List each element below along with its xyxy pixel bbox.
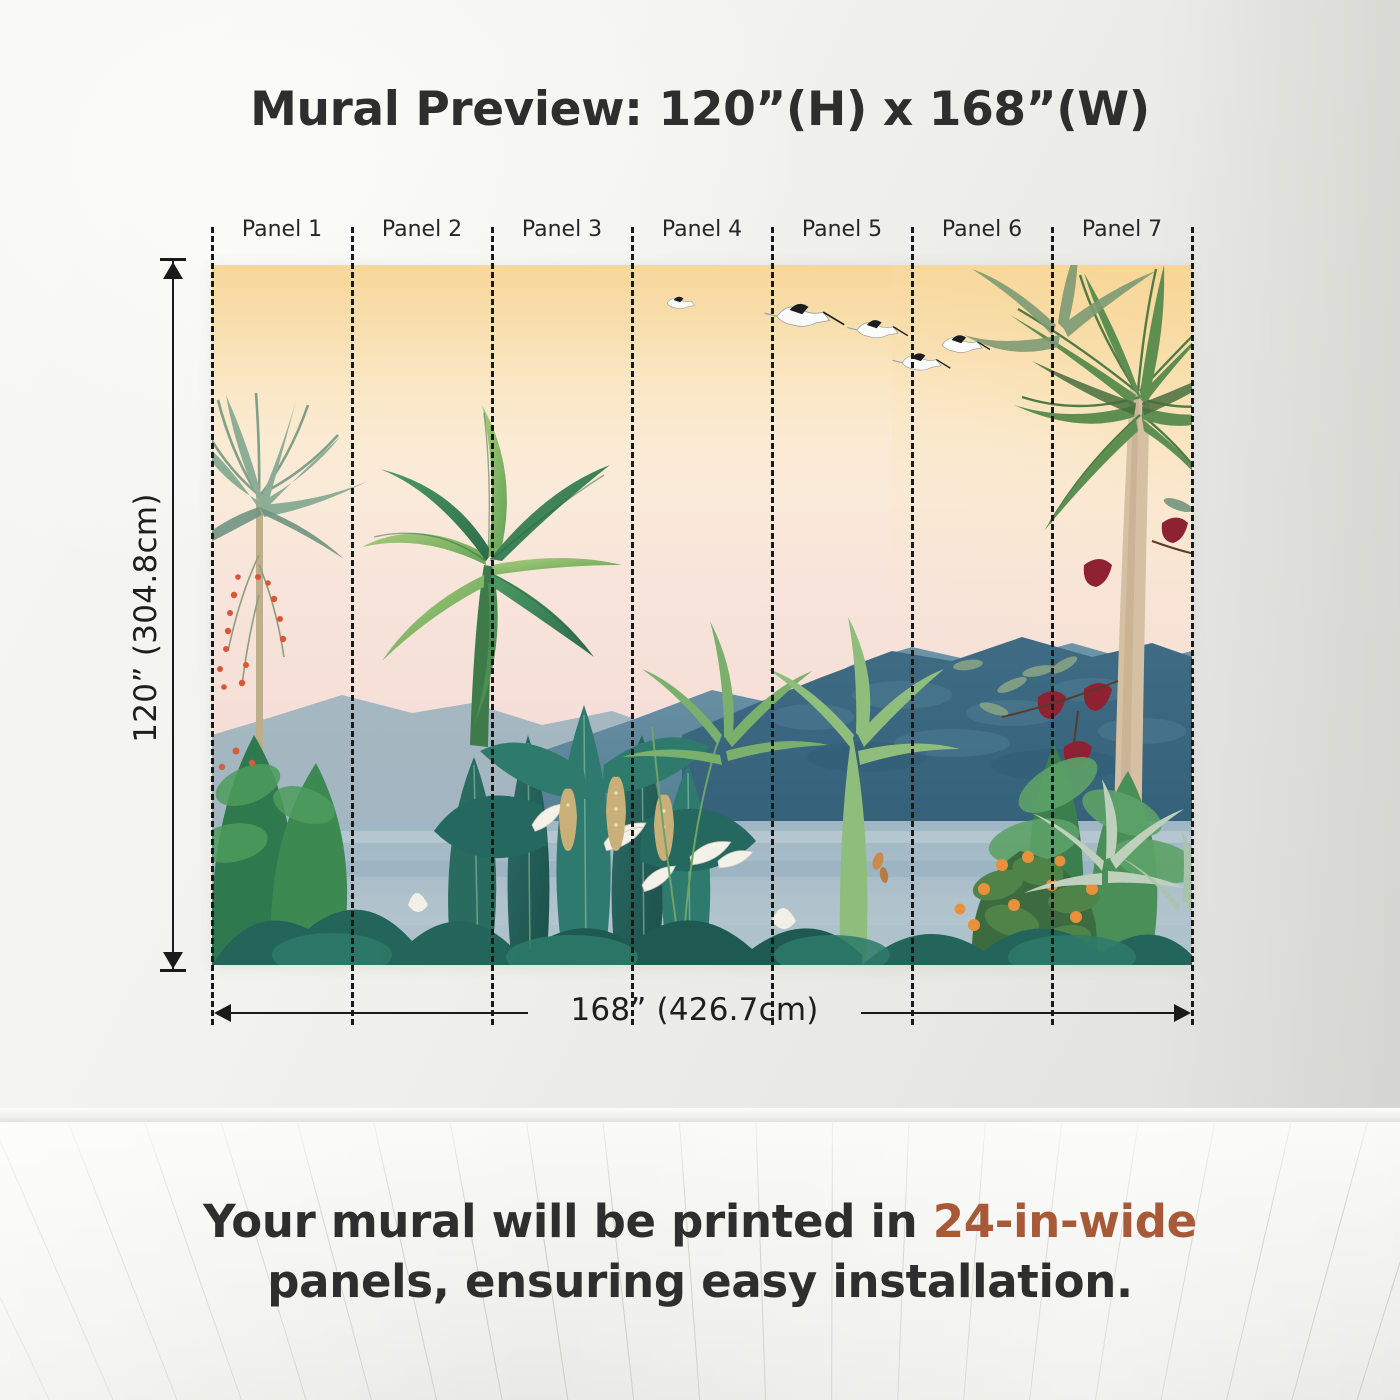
mural-edge-line	[1191, 227, 1194, 1025]
mural-illustration	[212, 265, 1192, 965]
width-arrow-right-icon	[1174, 1004, 1191, 1022]
panel-divider-2	[491, 227, 494, 1025]
panel-label-6: Panel 6	[912, 214, 1052, 246]
height-line	[172, 258, 174, 972]
panel-label-4: Panel 4	[632, 214, 772, 246]
mural-preview-area	[212, 265, 1192, 965]
panel-divider-6	[1051, 227, 1054, 1025]
footer-caption: Your mural will be printed in 24-in-wide…	[0, 1192, 1400, 1312]
page-title: Mural Preview: 120”(H) x 168”(W)	[0, 82, 1400, 137]
panel-label-2: Panel 2	[352, 214, 492, 246]
mural-preview-screenshot: Mural Preview: 120”(H) x 168”(W) Panel 1…	[0, 0, 1400, 1400]
caption-line2: panels, ensuring easy installation.	[267, 1255, 1133, 1308]
panel-label-7: Panel 7	[1052, 214, 1192, 246]
panel-divider-4	[771, 227, 774, 1025]
width-label: 168” (426.7cm)	[528, 992, 861, 1028]
mural-artwork	[212, 265, 1192, 965]
right-upper-palm	[964, 265, 1156, 352]
caption-accent: 24-in-wide	[933, 1195, 1197, 1248]
panel-divider-1	[351, 227, 354, 1025]
mural-edge-line	[211, 227, 214, 1025]
panel-label-row: Panel 1Panel 2Panel 3Panel 4Panel 5Panel…	[212, 214, 1192, 246]
height-cap-bottom	[160, 969, 186, 972]
panel-divider-5	[911, 227, 914, 1025]
panel-label-1: Panel 1	[212, 214, 352, 246]
height-arrow-down-icon	[163, 952, 183, 969]
crane-birds	[667, 297, 990, 370]
panel-label-5: Panel 5	[772, 214, 912, 246]
width-line-left	[228, 1012, 528, 1014]
panel-divider-3	[631, 227, 634, 1025]
width-line-right	[861, 1012, 1174, 1014]
height-arrow-up-icon	[163, 262, 183, 279]
panel-label-3: Panel 3	[492, 214, 632, 246]
height-label: 120” (304.8cm)	[128, 448, 164, 788]
caption-line1-before: Your mural will be printed in	[203, 1195, 933, 1248]
